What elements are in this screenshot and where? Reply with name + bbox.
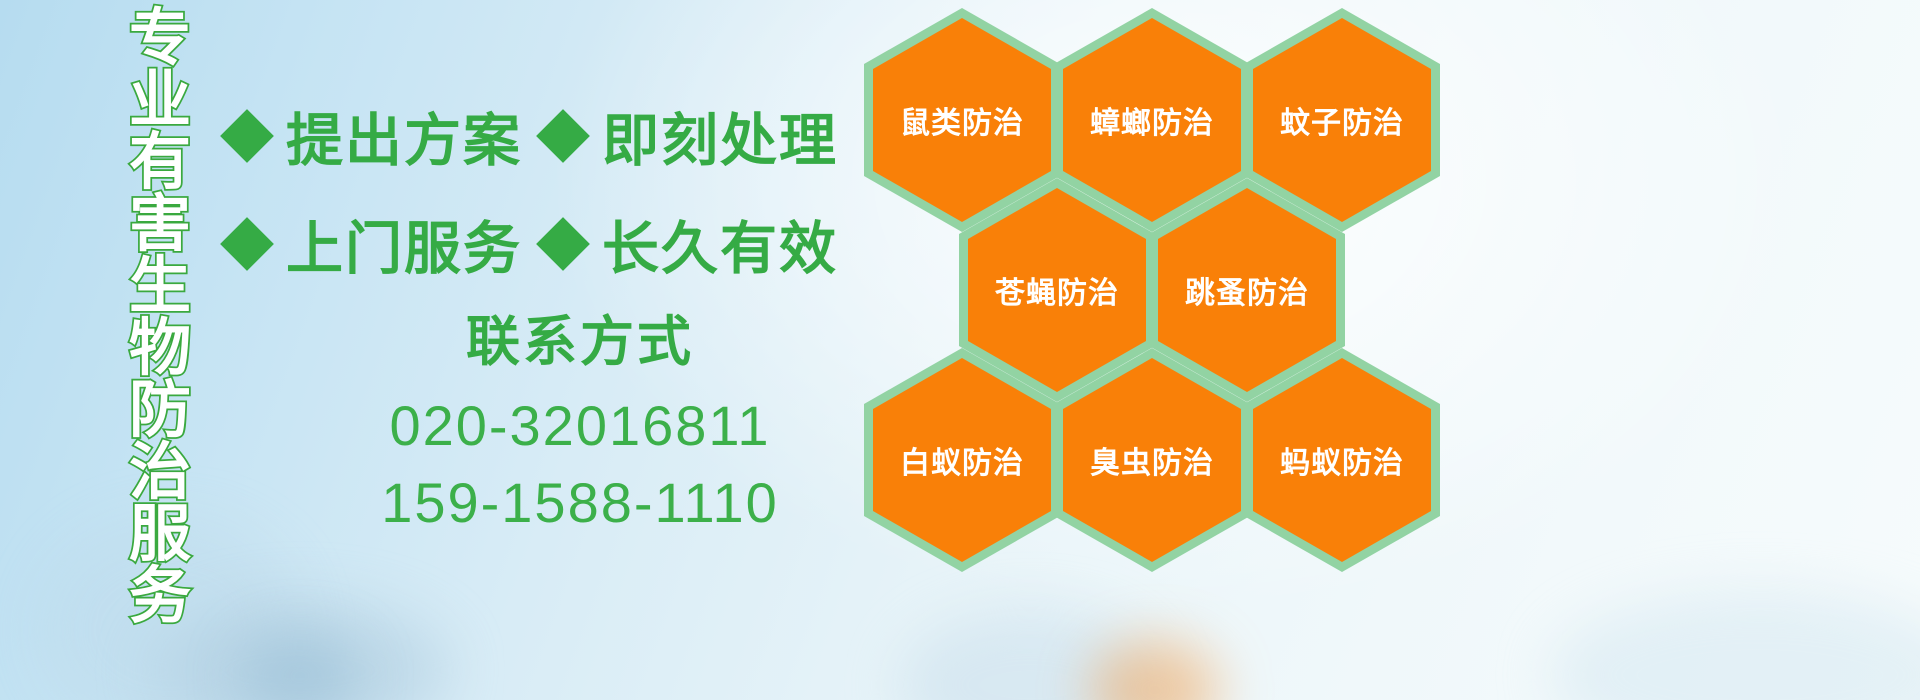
hex-inner: 臭虫防治 [1063,358,1241,562]
feature-list: 提出方案 即刻处理 上门服务 长久有效 [228,82,858,298]
feature-label: 长久有效 [602,203,838,285]
hex-inner: 蚂蚁防治 [1253,358,1431,562]
phone-number-landline[interactable]: 020-32016811 [300,387,860,464]
vertical-headline-char: 生 [129,256,191,318]
background-blur-blob [1550,590,1920,700]
hex-label: 跳蚤防治 [1185,268,1309,312]
hex-label: 鼠类防治 [900,98,1024,142]
hex-inner: 苍蝇防治 [968,188,1146,392]
hex-label: 苍蝇防治 [995,268,1119,312]
hex-label: 蟑螂防治 [1090,98,1214,142]
vertical-headline-char: 治 [129,442,191,504]
contact-block: 联系方式 020-32016811 159-1588-1110 [300,310,860,541]
feature-row: 提出方案 即刻处理 [228,82,858,190]
hex-inner: 鼠类防治 [873,18,1051,222]
vertical-headline-char: 服 [129,504,191,566]
hex-inner: 白蚁防治 [873,358,1051,562]
background-blur-blob [150,600,450,700]
background-blur-blob [900,610,1160,700]
vertical-headline-char: 有 [129,132,191,194]
diamond-bullet-icon [220,217,274,271]
feature-row: 上门服务 长久有效 [228,190,858,298]
promo-banner: 专 业 有 害 生 物 防 治 服 务 提出方案 即刻处理 上门服务 长久有效 … [0,0,1920,700]
vertical-headline-char: 防 [129,380,191,442]
diamond-bullet-icon [536,109,590,163]
diamond-bullet-icon [220,109,274,163]
vertical-headline-char: 业 [129,70,191,132]
background-blur-blob [240,636,360,700]
phone-number-mobile[interactable]: 159-1588-1110 [300,464,860,541]
hex-inner: 蚊子防治 [1253,18,1431,222]
hex-label: 白蚁防治 [900,438,1024,482]
vertical-headline-char: 专 [129,8,191,70]
vertical-headline-char: 务 [129,566,191,628]
hex-inner: 蟑螂防治 [1063,18,1241,222]
feature-label: 即刻处理 [602,95,838,177]
hex-label: 蚊子防治 [1280,98,1404,142]
feature-label: 上门服务 [286,203,522,285]
vertical-headline-char: 害 [129,194,191,256]
contact-title: 联系方式 [300,310,860,375]
vertical-headline-char: 物 [129,318,191,380]
background-blur-blob-orange [1090,640,1220,700]
diamond-bullet-icon [536,217,590,271]
service-honeycomb: 鼠类防治 蟑螂防治 蚊子防治 苍蝇防治 跳蚤防治 白蚁防治 [856,0,1476,560]
vertical-headline: 专 业 有 害 生 物 防 治 服 务 [104,8,216,568]
hex-label: 臭虫防治 [1090,438,1214,482]
feature-label: 提出方案 [286,95,522,177]
hex-label: 蚂蚁防治 [1280,438,1404,482]
hex-inner: 跳蚤防治 [1158,188,1336,392]
